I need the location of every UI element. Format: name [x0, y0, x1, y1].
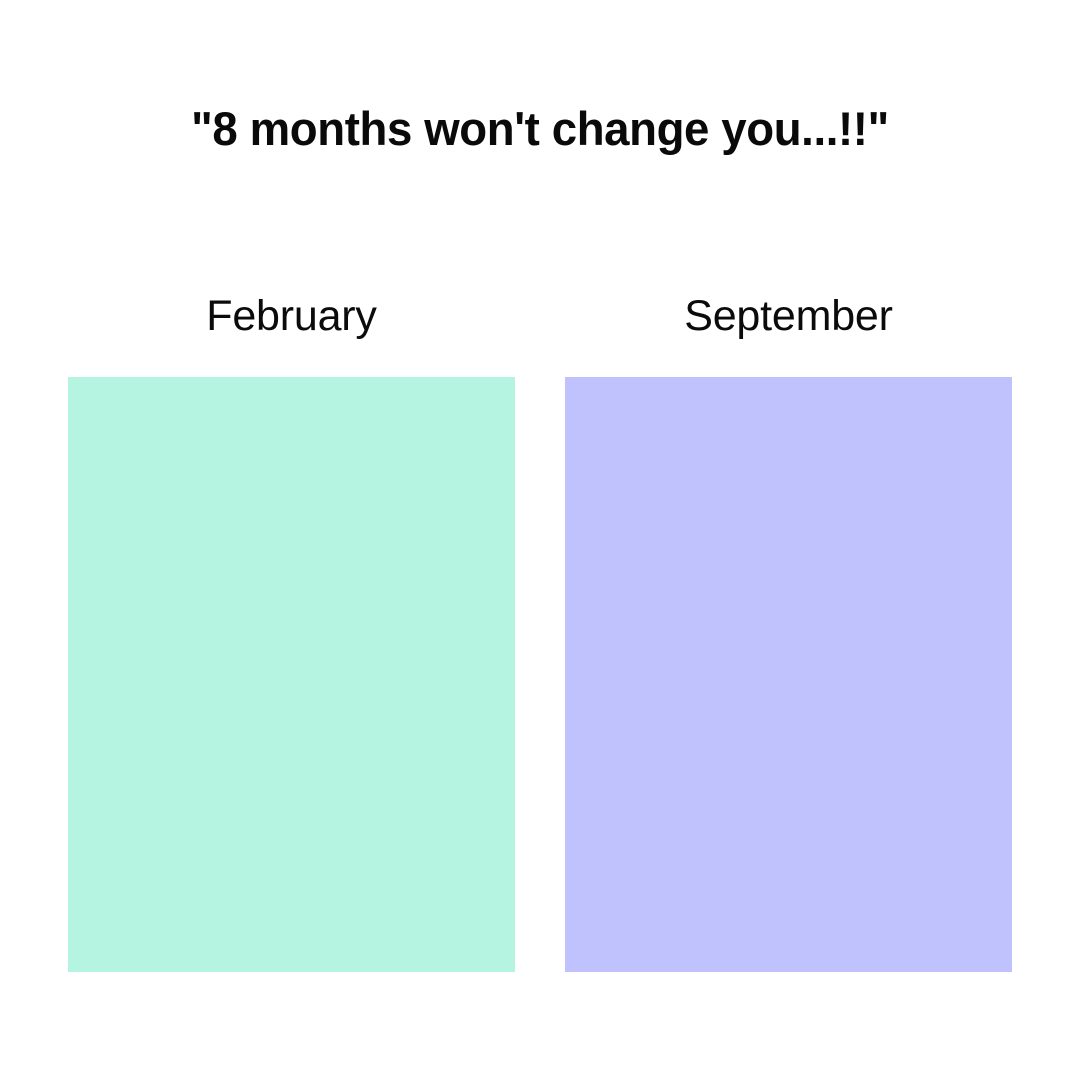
meme-canvas: "8 months won't change you...!!" Februar… — [0, 0, 1080, 1080]
photo-panel-february — [68, 377, 515, 972]
meme-title: "8 months won't change you...!!" — [16, 103, 1064, 156]
comparison-column-before: February — [68, 290, 515, 972]
panel-label-february: February — [206, 290, 376, 343]
photo-panel-september — [565, 377, 1012, 972]
comparison-row: February September — [68, 290, 1012, 972]
comparison-column-after: September — [565, 290, 1012, 972]
panel-label-september: September — [684, 290, 893, 343]
